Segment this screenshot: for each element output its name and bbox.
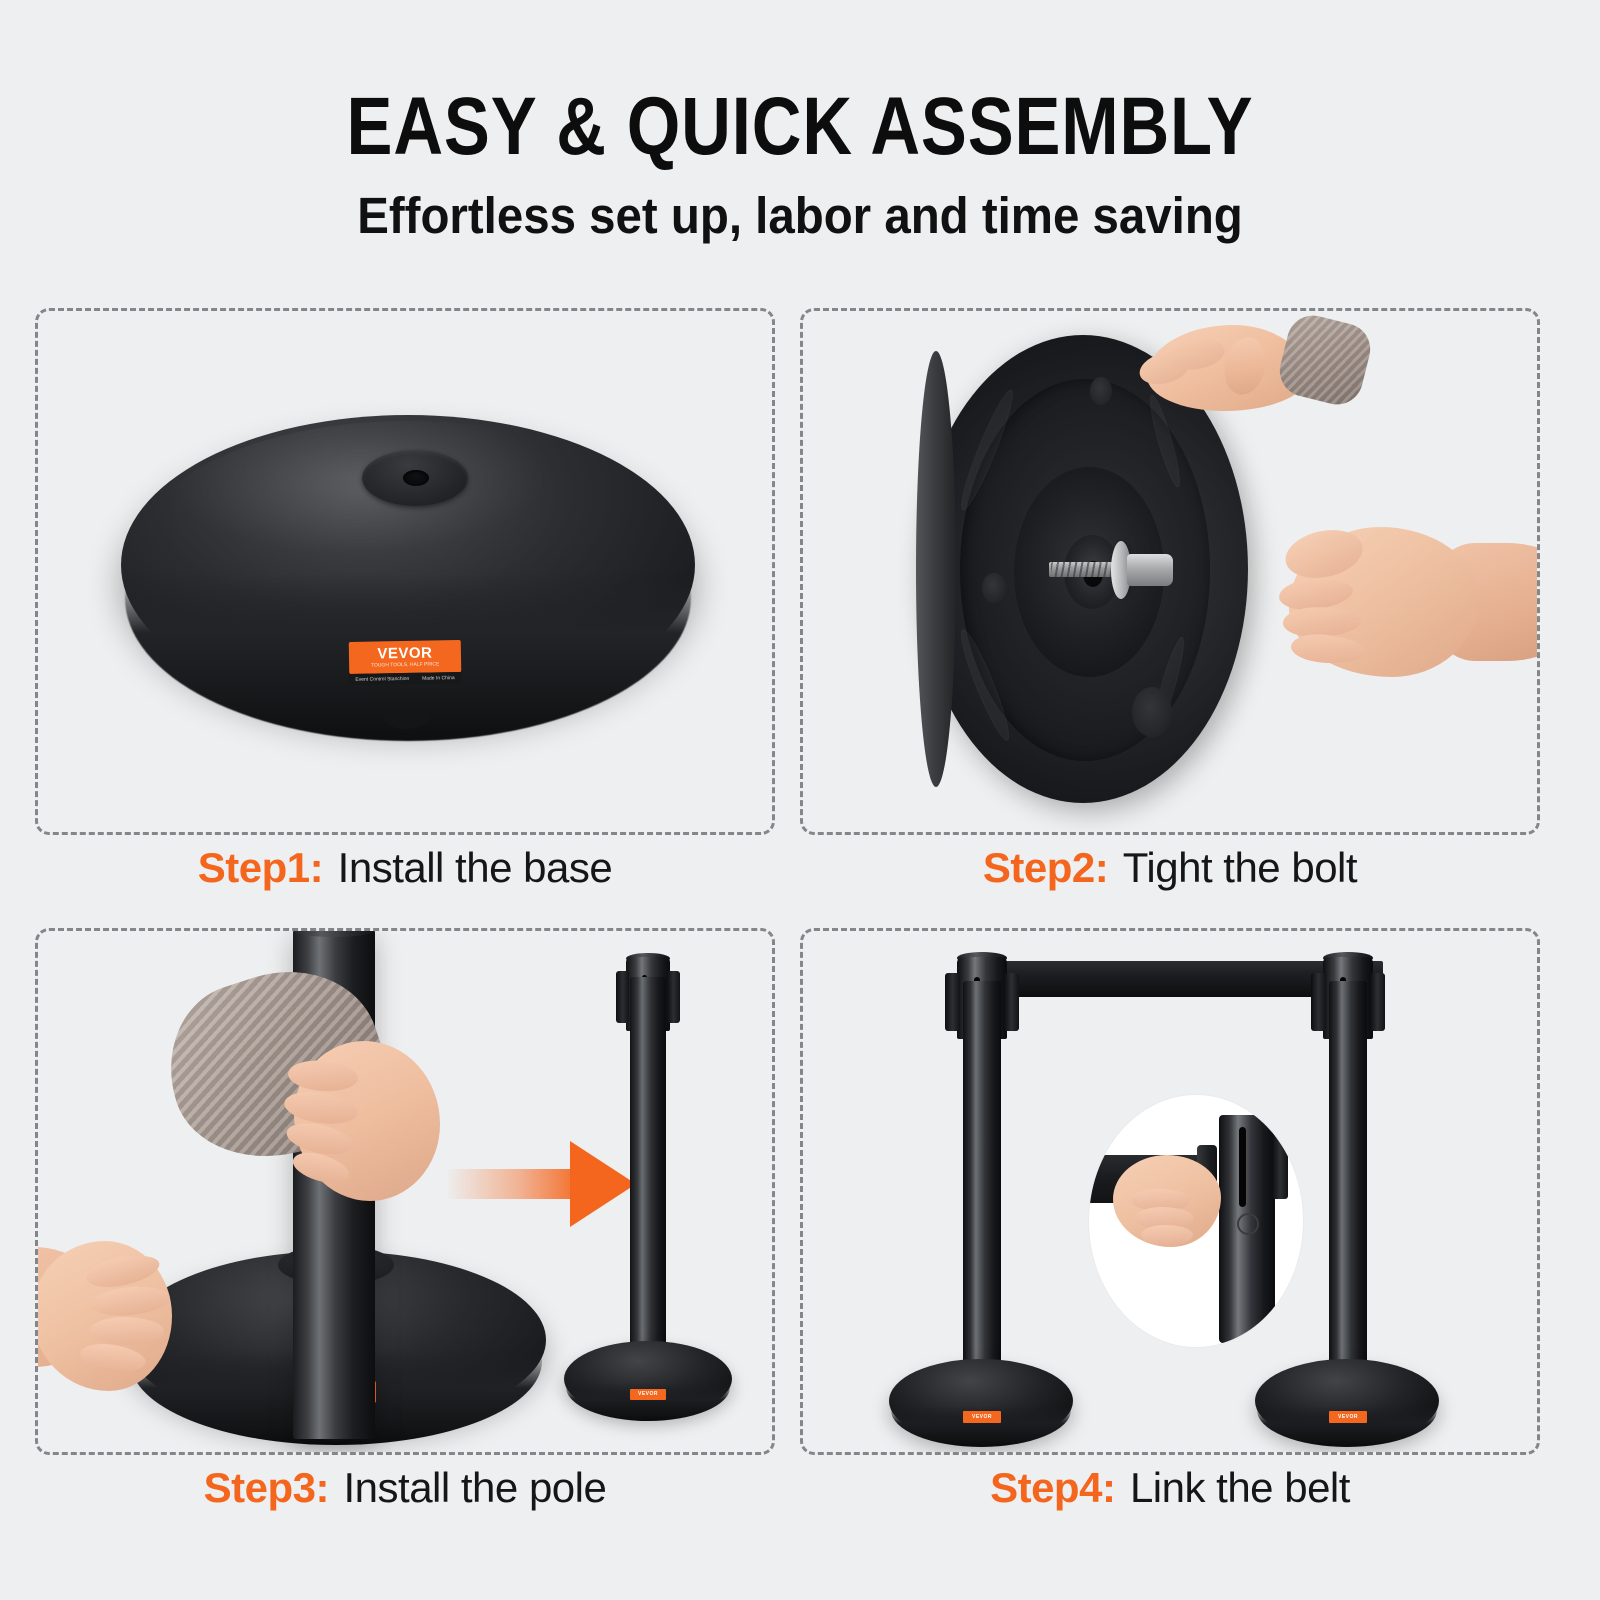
step-1-label: Step1 bbox=[198, 844, 310, 891]
bolt-assembly bbox=[1049, 541, 1183, 599]
step-4-description: Link the belt bbox=[1130, 1464, 1350, 1511]
step-card-2: Step2:Tight the bolt bbox=[800, 308, 1540, 928]
bolt-head bbox=[1127, 554, 1173, 586]
hand-clipping-belt bbox=[1107, 1155, 1227, 1251]
hand-tightening-bolt bbox=[1243, 507, 1540, 717]
belt-receiver-clip bbox=[1004, 973, 1019, 1031]
base-pad bbox=[982, 573, 1006, 603]
step-4-illustration: VEVOR TOUGH TOOLS, HALF PRICE VEVOR bbox=[803, 931, 1537, 1452]
base-disc-rim bbox=[1257, 1373, 1437, 1447]
base-bolt-hole bbox=[403, 470, 429, 486]
belt-receiver-clip bbox=[616, 971, 629, 1023]
page-title: EASY & QUICK ASSEMBLY bbox=[128, 0, 1472, 168]
hand-holding-base-top bbox=[1107, 319, 1357, 429]
base-disc-top-view: VEVOR TOUGH TOOLS, HALF PRICE Event Cont… bbox=[121, 415, 695, 745]
step-card-1: VEVOR TOUGH TOOLS, HALF PRICE Event Cont… bbox=[35, 308, 775, 928]
stanchion-pole bbox=[963, 981, 1001, 1375]
bolt-threads bbox=[1051, 562, 1115, 577]
hand-steadying-base bbox=[35, 1231, 262, 1431]
base-disc-rim bbox=[891, 1373, 1071, 1447]
hand-finger bbox=[90, 1317, 164, 1345]
step-2-description: Tight the bolt bbox=[1123, 844, 1357, 891]
belt-receiver-clip bbox=[945, 973, 960, 1031]
stanchion-pole bbox=[1329, 981, 1367, 1375]
vevor-label: VEVOR TOUGH TOOLS, HALF PRICE bbox=[1329, 1411, 1367, 1423]
step-4-colon: : bbox=[1102, 1464, 1130, 1511]
step-1-photo-frame: VEVOR TOUGH TOOLS, HALF PRICE Event Cont… bbox=[35, 308, 775, 835]
base-pad bbox=[1132, 687, 1172, 737]
step-1-colon: : bbox=[310, 844, 338, 891]
step-card-4: VEVOR TOUGH TOOLS, HALF PRICE VEVOR bbox=[800, 928, 1540, 1548]
step-4-photo-frame: VEVOR TOUGH TOOLS, HALF PRICE VEVOR bbox=[800, 928, 1540, 1455]
step-3-description: Install the pole bbox=[344, 1464, 607, 1511]
vevor-label: VEVOR TOUGH TOOLS, HALF PRICE bbox=[349, 640, 462, 674]
step-3-label: Step3 bbox=[204, 1464, 316, 1511]
step-4-caption: Step4:Link the belt bbox=[800, 1464, 1540, 1512]
vevor-strip-left: Event Control Stanchion bbox=[355, 675, 409, 682]
vevor-info-strip: Event Control Stanchion Made In China bbox=[349, 672, 461, 685]
base-disc-rim bbox=[566, 1353, 730, 1421]
vevor-label: VEVOR TOUGH TOOLS, HALF PRICE bbox=[630, 1389, 666, 1400]
stanchion-pole bbox=[630, 977, 666, 1355]
belt-receiver-clip bbox=[1272, 1129, 1288, 1199]
step-3-caption: Step3:Install the pole bbox=[35, 1464, 775, 1512]
vevor-brand-name: VEVOR bbox=[972, 1415, 992, 1420]
vevor-brand-name: VEVOR bbox=[1338, 1415, 1358, 1420]
step-2-caption: Step2:Tight the bolt bbox=[800, 844, 1540, 892]
steps-grid: VEVOR TOUGH TOOLS, HALF PRICE Event Cont… bbox=[0, 308, 1600, 1578]
step-3-photo-frame: VEVOR TOUGH TOOLS, HALF PRICE Event Cont… bbox=[35, 928, 775, 1455]
hand-finger bbox=[1141, 1225, 1193, 1245]
vevor-label: VEVOR TOUGH TOOLS, HALF PRICE bbox=[963, 1411, 1001, 1423]
belt-clip-closeup-inset bbox=[1089, 1095, 1303, 1347]
belt-receiver-clip bbox=[1311, 973, 1326, 1031]
belt-receiver-clip bbox=[667, 971, 680, 1023]
stanchion-left: VEVOR TOUGH TOOLS, HALF PRICE bbox=[881, 945, 1081, 1455]
step-3-illustration: VEVOR TOUGH TOOLS, HALF PRICE Event Cont… bbox=[38, 931, 772, 1452]
belt-receiver-clip bbox=[1370, 973, 1385, 1031]
step-1-illustration: VEVOR TOUGH TOOLS, HALF PRICE Event Cont… bbox=[38, 311, 772, 832]
header: EASY & QUICK ASSEMBLY Effortless set up,… bbox=[0, 0, 1600, 241]
step-3-colon: : bbox=[316, 1464, 344, 1511]
step-1-caption: Step1:Install the base bbox=[35, 844, 775, 892]
step-1-description: Install the base bbox=[338, 844, 613, 891]
step-2-colon: : bbox=[1095, 844, 1123, 891]
belt-slot bbox=[1239, 1127, 1246, 1207]
belt-latch bbox=[1237, 1213, 1259, 1235]
step-card-3: VEVOR TOUGH TOOLS, HALF PRICE Event Cont… bbox=[35, 928, 775, 1548]
vevor-tagline: TOUGH TOOLS, HALF PRICE bbox=[371, 660, 439, 668]
vevor-strip-right: Made In China bbox=[422, 675, 455, 682]
base-underside-edge bbox=[916, 351, 956, 787]
assembled-stanchion: VEVOR TOUGH TOOLS, HALF PRICE bbox=[558, 949, 738, 1429]
page-subtitle: Effortless set up, labor and time saving bbox=[56, 168, 1544, 241]
base-rubber-foot bbox=[383, 707, 429, 729]
step-2-label: Step2 bbox=[983, 844, 1095, 891]
step-4-label: Step4 bbox=[990, 1464, 1102, 1511]
step-2-illustration bbox=[803, 311, 1537, 832]
step-2-photo-frame bbox=[800, 308, 1540, 835]
vevor-brand-name: VEVOR bbox=[638, 1392, 658, 1397]
vevor-brand-name: VEVOR bbox=[377, 646, 432, 662]
